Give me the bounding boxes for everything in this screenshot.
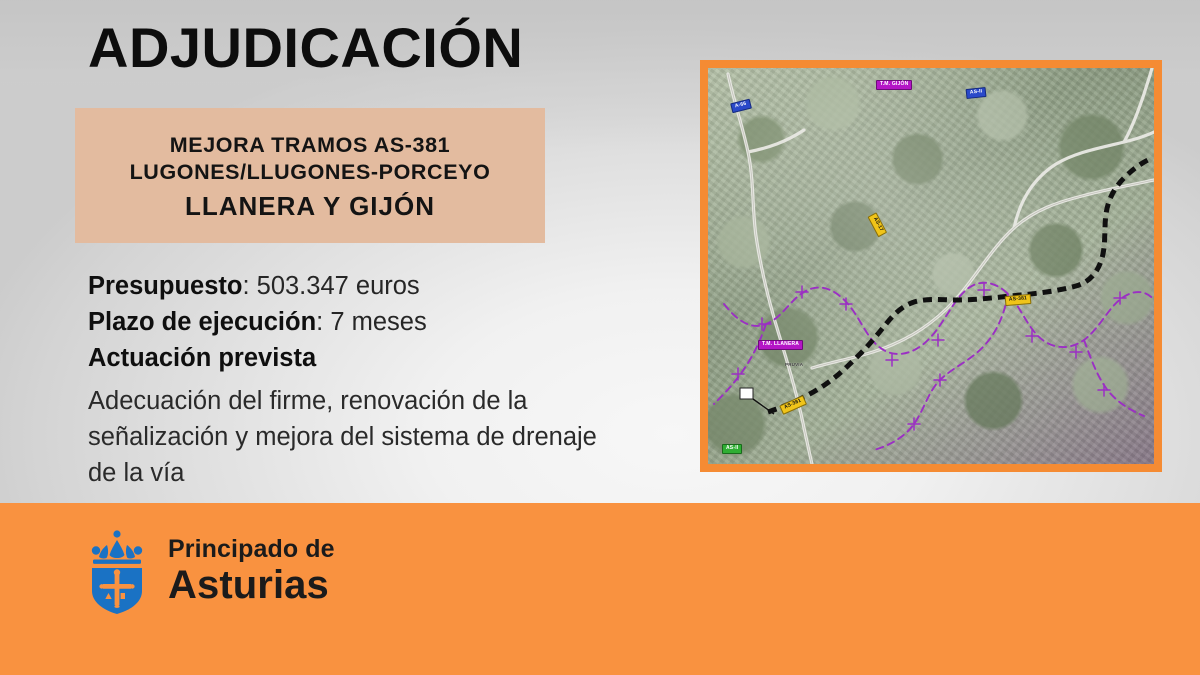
map-municipal-boundary: [714, 283, 1154, 450]
map-label-place-pruvia: PRUVIA: [782, 362, 806, 369]
omega-glyph: [121, 593, 125, 599]
detail-row-action: Actuación prevista: [88, 340, 648, 376]
project-title-line-3: LLANERA Y GIJÓN: [185, 190, 435, 223]
detail-row-budget: Presupuesto: 503.347 euros: [88, 268, 648, 304]
slide-root: ADJUDICACIÓN MEJORA TRAMOS AS-381 LUGONE…: [0, 0, 1200, 675]
brand-logo-text: Principado de Asturias: [168, 537, 335, 605]
map-project-route: [768, 160, 1148, 412]
brand-logo: Principado de Asturias: [84, 528, 335, 614]
term-value: : 7 meses: [316, 308, 427, 336]
map-figure: T.M. GIJÓN T.M. LLANERA A-66 AS-II AS-38…: [700, 60, 1162, 472]
detail-row-term: Plazo de ejecución: 7 meses: [88, 304, 648, 340]
brand-line-2: Asturias: [168, 565, 335, 605]
map-canvas: T.M. GIJÓN T.M. LLANERA A-66 AS-II AS-38…: [708, 68, 1154, 464]
map-shield-green: AS-II: [722, 444, 742, 454]
action-label: Actuación prevista: [88, 344, 316, 372]
asturias-coat-of-arms-icon: [84, 528, 150, 614]
brand-line-1: Principado de: [168, 537, 335, 562]
action-description: Adecuación del firme, renovación de la s…: [88, 383, 618, 492]
project-title-line-2: LUGONES/LLUGONES-PORCEYO: [130, 159, 491, 187]
project-details: Presupuesto: 503.347 euros Plazo de ejec…: [88, 268, 648, 491]
page-title: ADJUDICACIÓN: [88, 18, 523, 78]
budget-value: : 503.347 euros: [242, 272, 419, 300]
map-vector-overlay: [708, 68, 1154, 464]
map-route-marker: [740, 388, 774, 414]
project-title-line-1: MEJORA TRAMOS AS-381: [170, 132, 450, 160]
map-label-boundary-gijon: T.M. GIJÓN: [876, 80, 912, 90]
term-label: Plazo de ejecución: [88, 308, 316, 336]
project-highlight-box: MEJORA TRAMOS AS-381 LUGONES/LLUGONES-PO…: [75, 108, 545, 243]
map-label-boundary-llanera: T.M. LLANERA: [758, 340, 803, 350]
budget-label: Presupuesto: [88, 272, 242, 300]
crown-icon: [92, 530, 142, 564]
